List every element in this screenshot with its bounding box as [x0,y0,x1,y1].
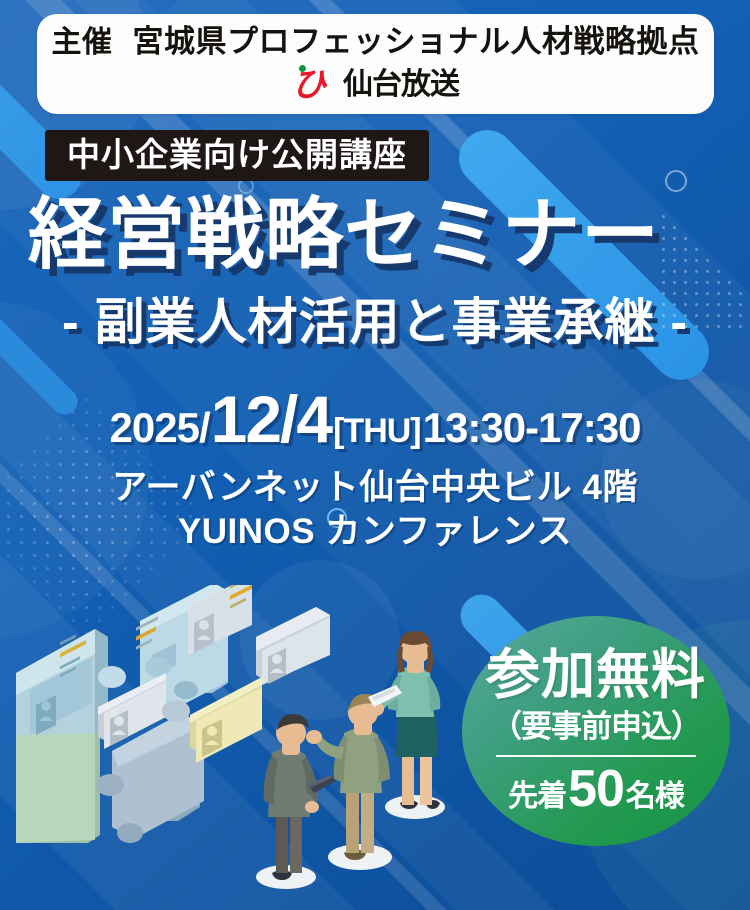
event-day: 12/4 [211,381,331,457]
capacity-suffix: 名様 [626,782,684,812]
sponsor-line: 主催 宮城県プロフェッショナル人材戦略拠点 [52,26,700,58]
event-dayofweek: [THU] [333,412,421,451]
circle-outline [665,170,687,192]
capacity-number: 50 [568,763,624,815]
event-time: 13:30-17:30 [423,404,641,452]
profile-card-floating [256,585,330,685]
page-title: 経営戦略セミナー [28,194,722,275]
sponsor-organization: 宮城県プロフェッショナル人材戦略拠点 [133,26,700,57]
isometric-illustration-svg [0,585,480,910]
event-datetime: 2025/ 12/4 [THU] 13:30-17:30 [30,381,720,457]
free-badge-divider [496,755,696,757]
broadcaster-logo: ひ 仙台放送 [292,66,459,104]
sendai-hoso-mark-icon: ひ [292,66,338,104]
free-badge-note: （要事前申込） [491,711,701,742]
venue-line-2: YUINOS カンファレンス [30,510,720,554]
free-participation-badge: 参加無料 （要事前申込） 先着 50 名様 [462,616,730,846]
event-venue: アーバンネット仙台中央ビル 4階 YUINOS カンファレンス [30,466,720,554]
free-badge-capacity: 先着 50 名様 [508,763,684,815]
broadcaster-name: 仙台放送 [343,70,459,100]
illustration [0,585,480,910]
logo-red-glyph: ひ [292,68,323,102]
venue-line-1: アーバンネット仙台中央ビル 4階 [30,466,720,510]
seminar-poster: 主催 宮城県プロフェッショナル人材戦略拠点 ひ 仙台放送 中小企業向け公開講座 … [0,0,750,910]
page-subtitle: - 副業人材活用と事業承継 - [30,296,720,349]
free-badge-headline: 参加無料 [486,648,706,702]
event-year: 2025/ [110,404,210,452]
sponsor-label: 主催 [52,28,113,58]
sponsor-card: 主催 宮城県プロフェッショナル人材戦略拠点 ひ 仙台放送 [37,14,714,114]
capacity-prefix: 先着 [508,782,566,812]
kicker-badge: 中小企業向け公開講座 [45,130,429,181]
